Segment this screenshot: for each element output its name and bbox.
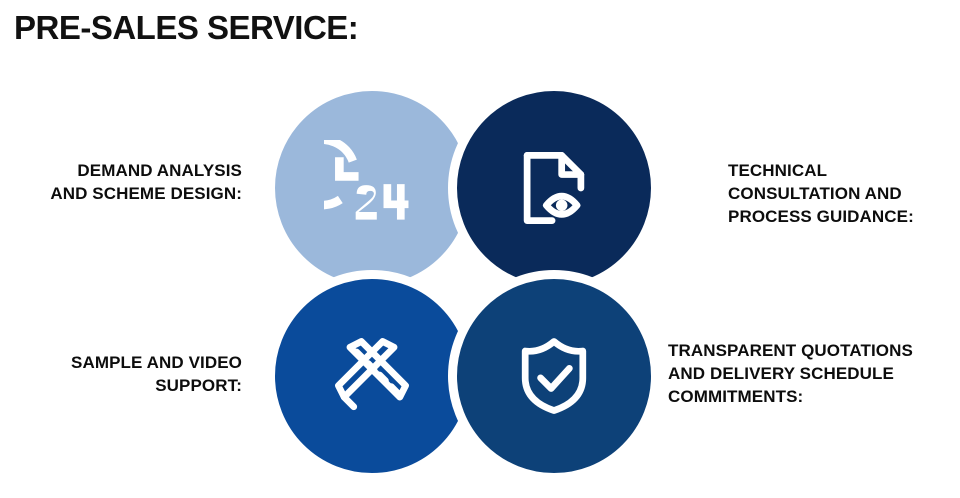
segment-demand-analysis[interactable] bbox=[266, 82, 478, 294]
label-demand-analysis: DEMAND ANALYSIS AND SCHEME DESIGN: bbox=[2, 160, 242, 206]
document-eye-icon bbox=[506, 140, 602, 236]
shield-check-icon bbox=[506, 328, 602, 424]
page-title: PRE-SALES SERVICE: bbox=[14, 8, 358, 48]
label-sample-video-support: SAMPLE AND VIDEO SUPPORT: bbox=[2, 352, 242, 398]
label-transparent-quotations: TRANSPARENT QUOTATIONS AND DELIVERY SCHE… bbox=[668, 340, 960, 408]
clock-24-rotate-icon bbox=[324, 140, 420, 236]
segment-transparent-quotations[interactable] bbox=[448, 270, 660, 482]
four-circle-diagram bbox=[266, 82, 676, 482]
pen-ruler-icon bbox=[324, 328, 420, 424]
label-technical-consultation: TECHNICAL CONSULTATION AND PROCESS GUIDA… bbox=[728, 160, 960, 228]
segment-technical-consultation[interactable] bbox=[448, 82, 660, 294]
segment-sample-video-support[interactable] bbox=[266, 270, 478, 482]
